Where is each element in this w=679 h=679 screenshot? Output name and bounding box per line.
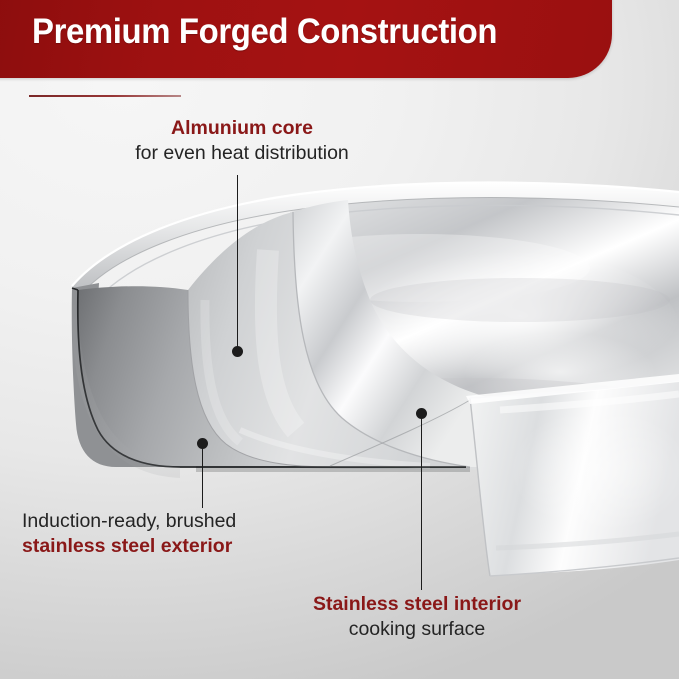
header-banner: Premium Forged Construction	[0, 0, 612, 78]
callout-stainless-steel-interior: Stainless steel interior cooking surface	[272, 592, 562, 642]
leader-dot-aluminum-core	[232, 346, 243, 357]
callout-aluminum-core-title: Almunium core	[72, 116, 412, 141]
callout-aluminum-core-subtitle: for even heat distribution	[72, 141, 412, 166]
title-underline-rule	[29, 95, 181, 97]
leader-line-stainless-steel-interior	[421, 418, 423, 590]
infographic-page: Premium Forged Construction	[0, 0, 679, 679]
callout-stainless-steel-exterior-subtitle: Induction-ready, brushed	[22, 509, 352, 534]
pan-cutaway-illustration	[0, 0, 679, 679]
callout-stainless-steel-interior-subtitle: cooking surface	[272, 617, 562, 642]
leader-line-stainless-steel-exterior	[202, 448, 204, 508]
callout-aluminum-core: Almunium core for even heat distribution	[72, 116, 412, 166]
callout-stainless-steel-interior-title: Stainless steel interior	[272, 592, 562, 617]
leader-line-aluminum-core	[237, 175, 239, 352]
page-title: Premium Forged Construction	[32, 12, 497, 52]
callout-stainless-steel-exterior: Induction-ready, brushed stainless steel…	[22, 509, 352, 559]
leader-dot-stainless-steel-interior	[416, 408, 427, 419]
leader-dot-stainless-steel-exterior	[197, 438, 208, 449]
callout-stainless-steel-exterior-title: stainless steel exterior	[22, 534, 352, 559]
